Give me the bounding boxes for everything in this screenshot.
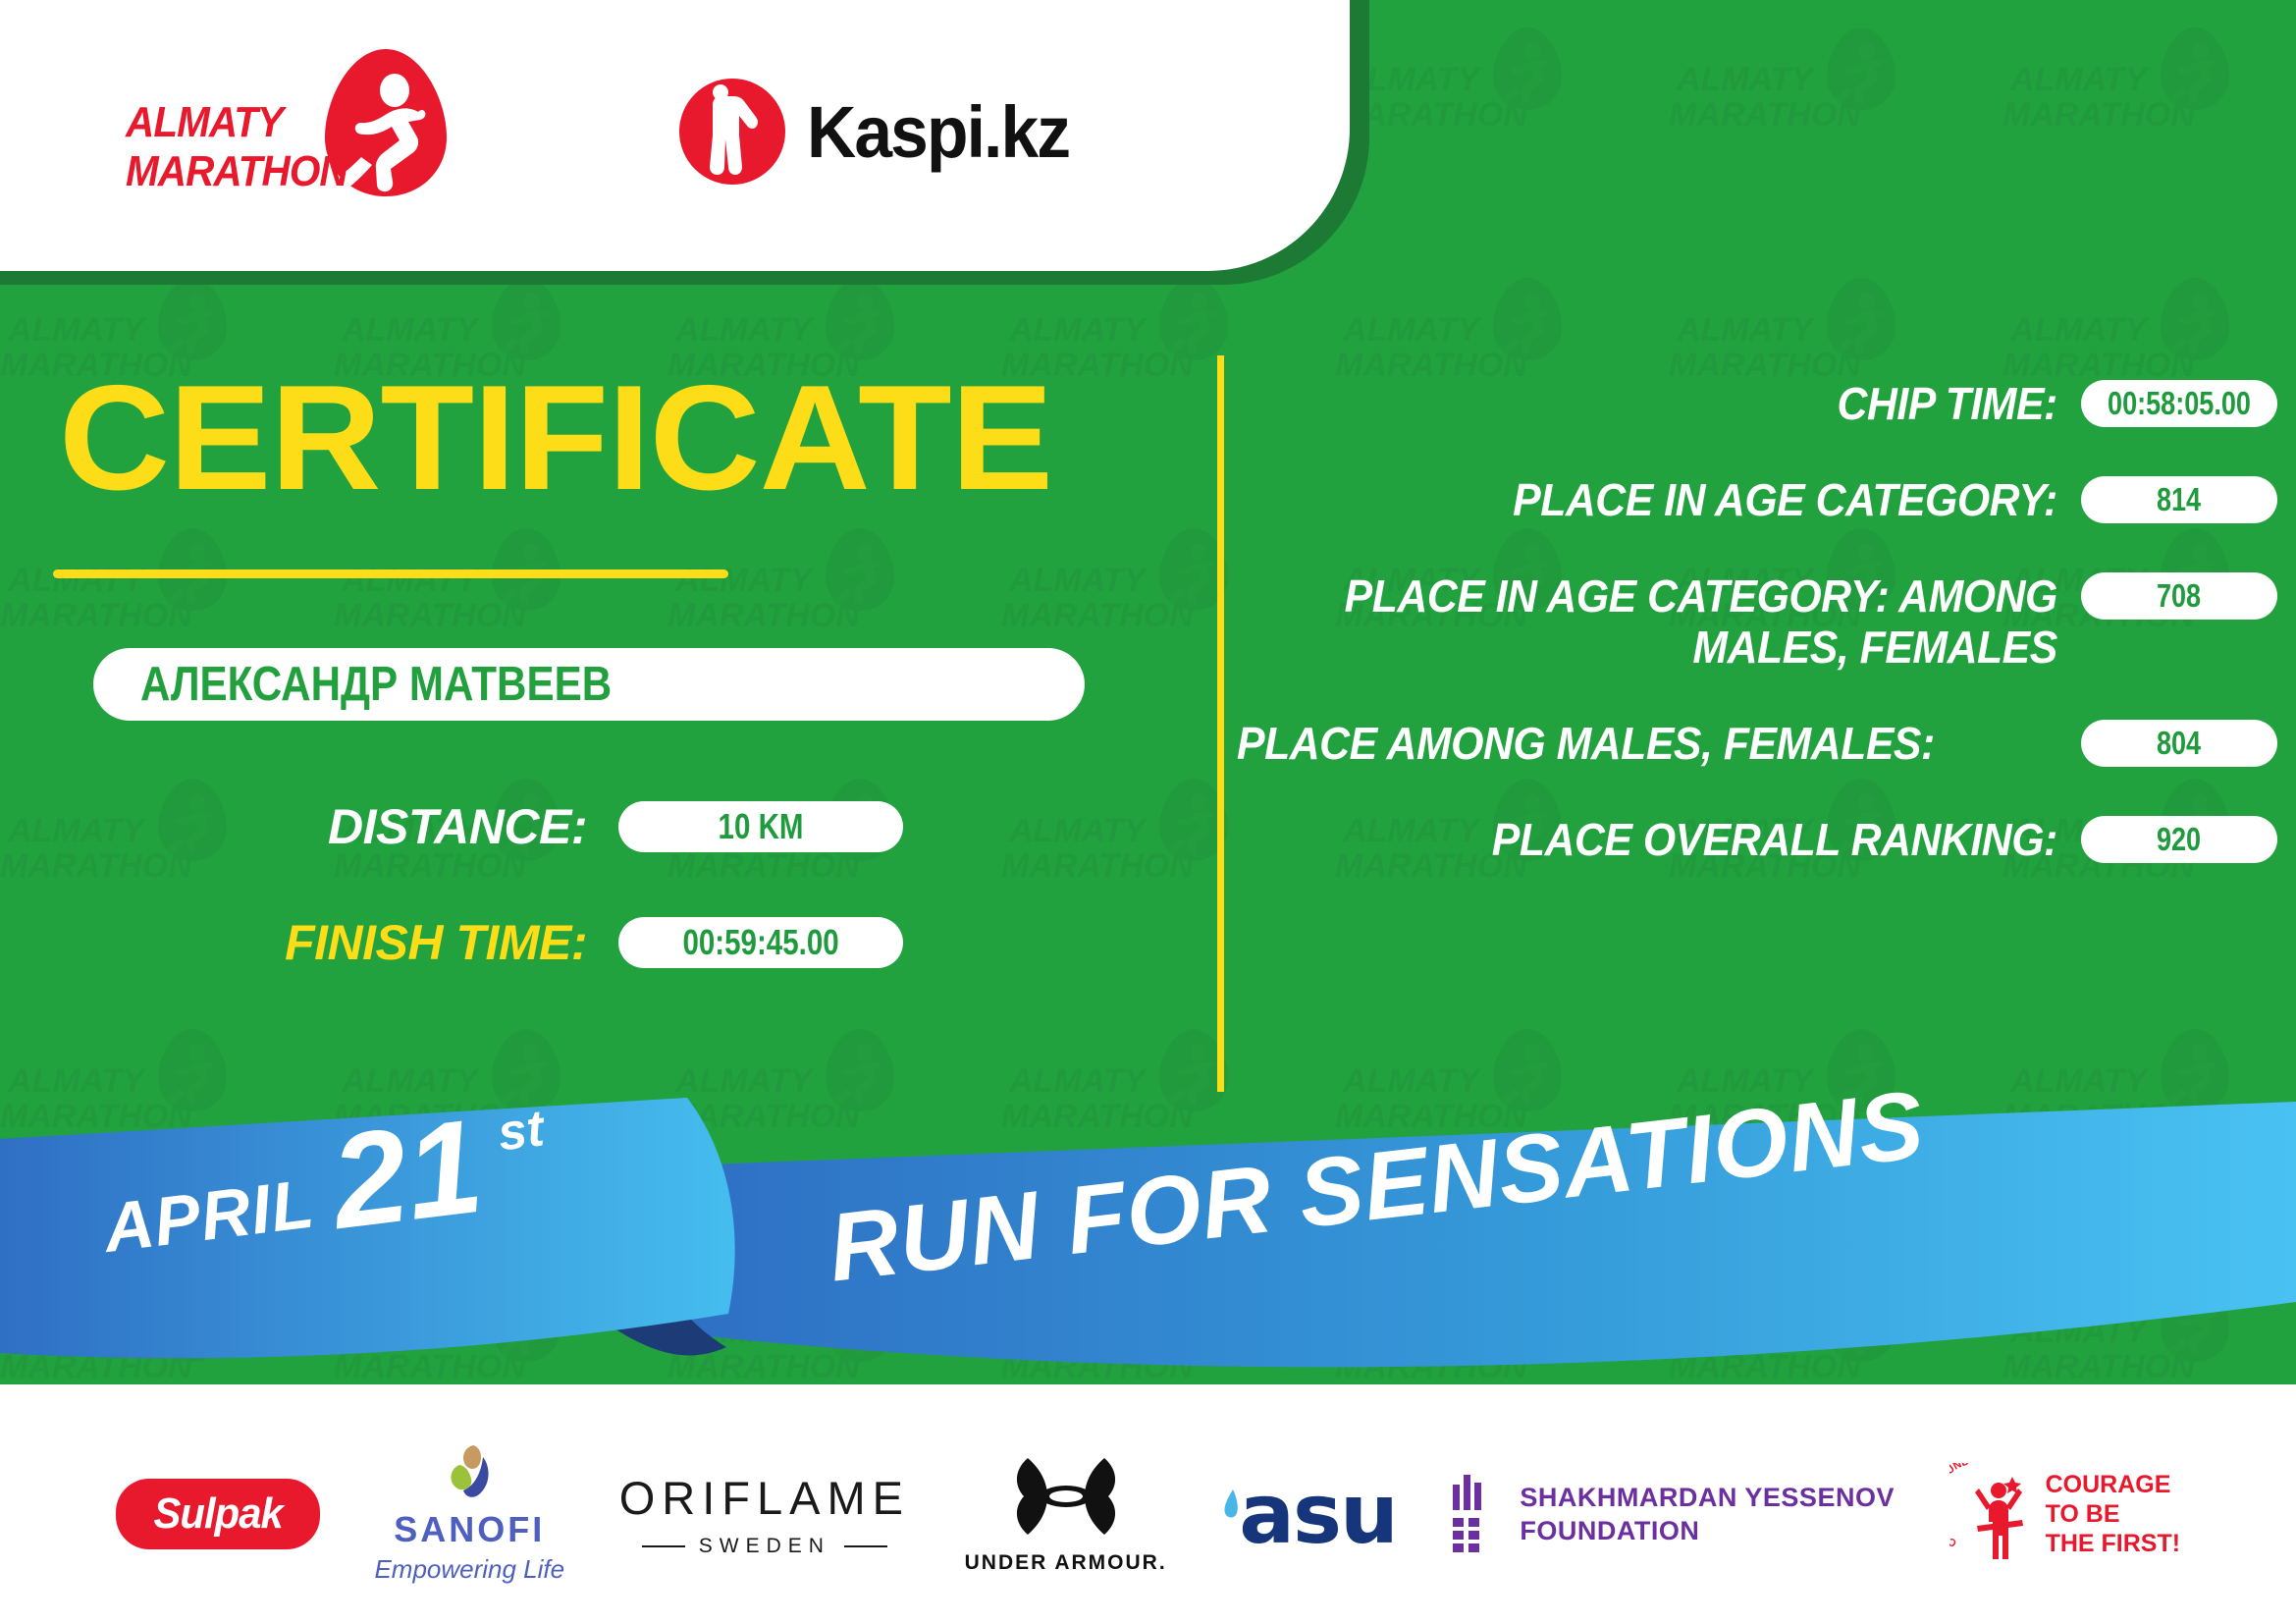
under-armour-logo-text: UNDER ARMOUR.: [965, 1551, 1167, 1575]
title-underline: [53, 569, 728, 578]
stat-row-distance: DISTANCE: 10 KM: [0, 795, 1158, 858]
place-among-gender-value-pill: 804: [2081, 720, 2277, 767]
sanofi-tagline: Empowering Life: [374, 1554, 564, 1585]
distance-value-pill: 10 KM: [618, 801, 903, 852]
sanofi-logo-text: SANOFI: [374, 1509, 564, 1550]
place-age-category-gender-value-pill: 708: [2081, 572, 2277, 620]
place-age-category-label: PLACE IN AGE CATEGORY:: [1296, 474, 2081, 525]
sponsor-asu: asu: [1221, 1466, 1396, 1562]
courage-logo-line3: THE FIRST!: [2046, 1529, 2181, 1558]
stat-row-finish-time: FINISH TIME: 00:59:45.00: [0, 911, 1158, 974]
sponsor-courage-to-be-the-first: CORPORATE FUND COURAGE TO BE THE FIRST!: [1949, 1463, 2181, 1565]
finish-time-value-pill: 00:59:45.00: [618, 917, 903, 968]
finish-time-label: FINISH TIME:: [0, 914, 618, 971]
oriflame-rule-right: [844, 1545, 887, 1547]
courage-person-icon: CORPORATE FUND: [1949, 1463, 2034, 1565]
yessenov-bars-icon: [1451, 1473, 1498, 1555]
stat-row-place-age-category: PLACE IN AGE CATEGORY: 814: [1237, 474, 2277, 525]
chip-time-label: CHIP TIME:: [1296, 378, 2081, 429]
finish-time-value: 00:59:45.00: [682, 922, 838, 963]
place-among-gender-label: PLACE AMONG MALES, FEMALES:: [1237, 718, 2022, 769]
participant-name-field: АЛЕКСАНДР МАТВЕЕВ: [93, 648, 1085, 721]
kaspi-people-icon: [677, 77, 787, 187]
place-overall-label: PLACE OVERALL RANKING:: [1296, 814, 2081, 865]
sponsors-bar: Sulpak SANOFI Empowering Life ORIFLAME S…: [0, 1404, 2296, 1624]
left-stats-group: DISTANCE: 10 KM FINISH TIME: 00:59:45.00: [0, 795, 1158, 1027]
under-armour-icon: [992, 1454, 1140, 1539]
stat-row-place-among-gender: PLACE AMONG MALES, FEMALES: 804: [1237, 718, 2277, 769]
participant-name-value: АЛЕКСАНДР МАТВЕЕВ: [140, 657, 612, 712]
oriflame-rule-left: [642, 1545, 685, 1547]
courage-logo-line1: COURAGE: [2046, 1470, 2181, 1499]
place-age-category-gender-value: 708: [2157, 577, 2201, 615]
right-stats-group: CHIP TIME: 00:58:05.00 PLACE IN AGE CATE…: [1237, 378, 2277, 910]
courage-arc-text: CORPORATE FUND: [1949, 1463, 1971, 1549]
vertical-divider: [1217, 355, 1224, 1092]
yessenov-logo-line2: FOUNDATION: [1520, 1514, 1895, 1547]
sponsor-oriflame: ORIFLAME SWEDEN: [619, 1471, 910, 1558]
oriflame-sub: SWEDEN: [619, 1535, 910, 1558]
distance-value: 10 KM: [719, 806, 804, 847]
certificate-canvas: ALMATY MARATHON Kaspi.kz CERTIFICATE АЛЕ…: [0, 0, 2296, 1624]
yessenov-logo-line1: SHAKHMARDAN YESSENOV: [1520, 1481, 1895, 1514]
sulpak-logo: Sulpak: [116, 1479, 320, 1549]
asu-logo-text: asu: [1239, 1466, 1396, 1562]
event-day: 21: [325, 1102, 488, 1247]
place-overall-value: 920: [2157, 821, 2201, 858]
courage-logo-line2: TO BE: [2046, 1499, 2181, 1529]
almaty-marathon-logo-line2: MARATHON: [126, 147, 320, 196]
sulpak-logo-text: Sulpak: [153, 1489, 282, 1539]
sponsor-yessenov-foundation: SHAKHMARDAN YESSENOV FOUNDATION: [1451, 1473, 1895, 1555]
svg-text:CORPORATE FUND: CORPORATE FUND: [1949, 1463, 1971, 1549]
chip-time-value-pill: 00:58:05.00: [2081, 380, 2277, 427]
place-overall-value-pill: 920: [2081, 816, 2277, 863]
asu-droplet-icon: [1221, 1488, 1239, 1521]
stat-row-place-overall: PLACE OVERALL RANKING: 920: [1237, 814, 2277, 865]
oriflame-logo-text: ORIFLAME: [619, 1471, 910, 1525]
kaspi-logo-text: Kaspi.kz: [807, 90, 1069, 174]
place-among-gender-value: 804: [2157, 725, 2201, 762]
place-age-category-gender-label: PLACE IN AGE CATEGORY: AMONG MALES, FEMA…: [1296, 570, 2081, 673]
distance-label: DISTANCE:: [0, 798, 618, 855]
sanofi-leaf-icon: [440, 1443, 499, 1500]
sponsor-sulpak: Sulpak: [116, 1479, 320, 1549]
page-title: CERTIFICATE: [59, 363, 1052, 513]
sponsor-sanofi: SANOFI Empowering Life: [374, 1443, 564, 1585]
sponsor-under-armour: UNDER ARMOUR.: [965, 1454, 1167, 1575]
oriflame-sub-text: SWEDEN: [699, 1535, 830, 1558]
header-logos: ALMATY MARATHON Kaspi.kz: [0, 0, 1350, 271]
almaty-marathon-logo: ALMATY MARATHON: [126, 47, 450, 214]
event-day-ordinal: st: [494, 1093, 547, 1163]
stat-row-place-age-category-gender: PLACE IN AGE CATEGORY: AMONG MALES, FEMA…: [1237, 570, 2277, 673]
kaspi-logo: Kaspi.kz: [677, 77, 1086, 187]
chip-time-value: 00:58:05.00: [2108, 385, 2251, 422]
almaty-marathon-logo-line1: ALMATY: [126, 98, 320, 147]
stat-row-chip-time: CHIP TIME: 00:58:05.00: [1237, 378, 2277, 429]
place-age-category-value-pill: 814: [2081, 476, 2277, 523]
place-age-category-value: 814: [2157, 481, 2201, 518]
